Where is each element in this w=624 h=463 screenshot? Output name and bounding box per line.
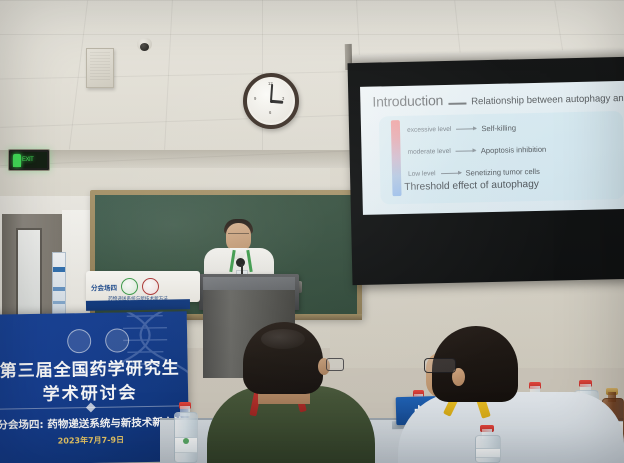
slide-row-level: Low level xyxy=(408,170,436,178)
water-bottle[interactable] xyxy=(174,402,196,463)
hair-highlight xyxy=(261,329,305,349)
projection-screen: Introduction Relationship between autoph… xyxy=(348,57,624,285)
attendee-green-glasses-icon xyxy=(326,358,344,371)
banner-top-strip xyxy=(86,299,190,311)
presenter-glasses-icon xyxy=(228,233,249,239)
arrow-icon xyxy=(441,173,461,174)
presentation-slide: Introduction Relationship between autoph… xyxy=(360,81,624,215)
banner-emblems xyxy=(67,328,129,353)
slide-row-level: moderate level xyxy=(407,148,450,156)
running-man-icon xyxy=(13,154,21,167)
clock-face: 12 3 6 9 xyxy=(249,79,293,123)
arrow-icon xyxy=(456,128,476,129)
autophagy-level-gradient-bar xyxy=(391,120,402,196)
slide-row-effect: Senetizing tumor cells xyxy=(465,167,539,178)
attendee-light-glasses-icon xyxy=(424,358,456,373)
session-room-sign-title: 分会场四 xyxy=(91,282,117,292)
clock-minute-hand xyxy=(270,84,273,101)
slide-row-effect: Self-killing xyxy=(481,123,516,133)
clock-hour-hand xyxy=(271,100,283,104)
arrow-icon xyxy=(456,150,476,151)
attendee-light-shirt-body xyxy=(398,392,624,463)
green-emblem-icon xyxy=(121,278,138,295)
bottle-body xyxy=(475,435,501,463)
banner-title-line2: 学术研讨会 xyxy=(0,377,188,405)
analog-wall-clock: 12 3 6 9 xyxy=(243,73,299,129)
wall-speaker-icon xyxy=(86,48,114,88)
bottle-label xyxy=(476,448,500,458)
clock-center-pin xyxy=(270,100,273,103)
door-window-pane xyxy=(16,228,42,318)
poster-stand xyxy=(52,252,66,320)
emergency-exit-sign: EXIT xyxy=(8,149,50,171)
exit-sign-label: EXIT xyxy=(22,157,33,163)
attendee-green-shirt-head xyxy=(243,322,323,394)
banner-emblem-left-icon xyxy=(67,329,91,353)
banner-emblem-right-icon xyxy=(105,328,129,352)
red-emblem-icon xyxy=(142,278,159,295)
dome-security-camera-icon xyxy=(137,38,152,51)
water-bottle[interactable] xyxy=(475,425,499,463)
slide-title-dash xyxy=(448,103,466,105)
slide-subtitle: Relationship between autophagy and c xyxy=(471,93,624,108)
slide-title: Introduction xyxy=(372,92,443,110)
slide-heading: Introduction Relationship between autoph… xyxy=(372,88,624,111)
conference-room-photo: 12 3 6 9 EXIT Intro xyxy=(0,0,624,463)
slide-row-level: excessive level xyxy=(407,126,451,134)
bottle-body xyxy=(174,412,198,463)
slide-row-effect: Apoptosis inhibition xyxy=(481,145,547,155)
